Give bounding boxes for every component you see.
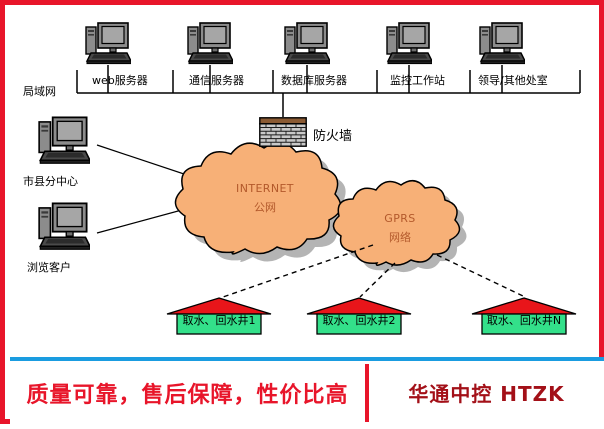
pc-icon-monitor-station [387, 23, 432, 64]
lan-label: 局域网 [23, 83, 56, 99]
banner-brand-area: 华通中控 HTZK [369, 361, 604, 424]
lan-label-monitor-station: 监控工作站 [390, 72, 445, 88]
diagram-frame: 局域网 web服务器 通信服务器 数据库服务器 监控工作站 领导/其他处室 防火… [0, 0, 604, 424]
well-label-1: 取水、回水井1 [165, 312, 273, 328]
lan-label-web-server: web服务器 [92, 72, 148, 88]
pc-icon-browse-client [39, 203, 90, 249]
label-browse-client: 浏览客户 [27, 259, 71, 275]
label-city-county-center: 市县分中心 [23, 173, 78, 189]
bottom-banner: 质量可靠，售后保障，性价比高 华通中控 HTZK [10, 357, 604, 424]
pc-icon-database-server [285, 23, 330, 64]
lan-label-leader-office: 领导/其他处室 [478, 72, 548, 88]
well-label-n: 取水、回水井N [470, 312, 578, 328]
gprs-cloud-icon [333, 181, 466, 273]
banner-brand: 华通中控 HTZK [408, 378, 564, 407]
gprs-cloud-label-line1: GPRS [355, 212, 445, 225]
firewall-label: 防火墙 [313, 125, 352, 144]
dashed-line-gprs-to-well-n [437, 255, 525, 297]
internet-cloud-label-line1: INTERNET [205, 182, 325, 195]
pc-icon-comm-server [188, 23, 233, 64]
pc-icon-city-county-center [39, 117, 90, 163]
lan-label-database-server: 数据库服务器 [281, 72, 347, 88]
gprs-cloud-label-line2: 网络 [355, 229, 445, 245]
banner-slogan-area: 质量可靠，售后保障，性价比高 [10, 361, 365, 424]
lan-label-comm-server: 通信服务器 [189, 72, 244, 88]
well-label-2: 取水、回水井2 [305, 312, 413, 328]
pc-icon-leader-office [480, 23, 525, 64]
banner-slogan: 质量可靠，售后保障，性价比高 [26, 377, 348, 409]
brick-firewall-icon [260, 118, 306, 146]
internet-cloud-label-line2: 公网 [205, 199, 325, 215]
pc-icon-web-server [86, 23, 131, 64]
